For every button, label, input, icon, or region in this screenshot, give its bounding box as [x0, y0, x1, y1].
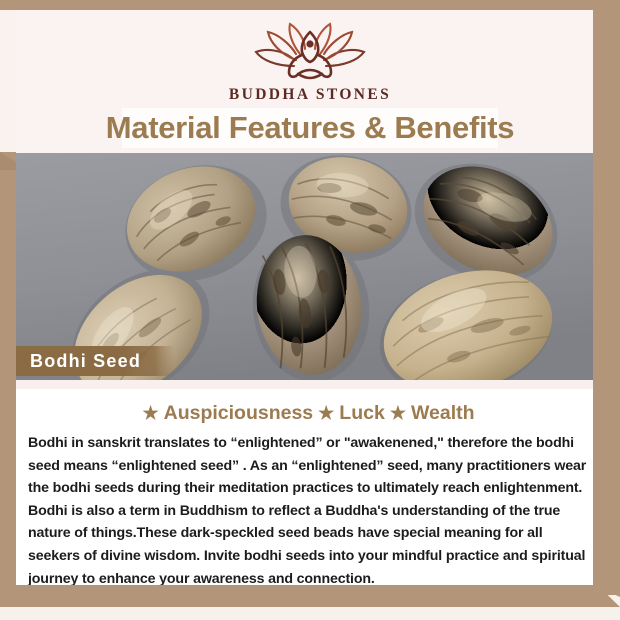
panel-top-strip [16, 380, 601, 389]
lotus-meditation-figure-icon [250, 22, 370, 84]
photo-caption: Bodhi Seed [30, 346, 141, 376]
frame-top-border [0, 0, 620, 10]
frame-left-border [0, 152, 16, 600]
brand-logo: BUDDHA STONES [0, 22, 620, 104]
infographic-card: BUDDHA STONES Material Features & Benefi… [0, 0, 620, 620]
star-icon: ★ [318, 403, 334, 423]
benefits-heading: ★Auspiciousness★Luck★Wealth [16, 402, 601, 425]
brand-name: BUDDHA STONES [0, 86, 620, 104]
benefit-item-luck: Luck [339, 402, 385, 424]
header-section: BUDDHA STONES Material Features & Benefi… [0, 0, 620, 153]
description-text: Bodhi in sanskrit translates to “enlight… [28, 432, 590, 590]
page-title: Material Features & Benefits [0, 108, 620, 148]
star-icon: ★ [390, 403, 406, 423]
product-photo: Bodhi Seed [16, 153, 601, 380]
benefit-item-auspiciousness: Auspiciousness [164, 402, 314, 424]
benefit-item-wealth: Wealth [411, 402, 475, 424]
star-icon: ★ [142, 403, 158, 423]
frame-bottom-border [0, 585, 600, 607]
frame-right-border [593, 0, 620, 595]
